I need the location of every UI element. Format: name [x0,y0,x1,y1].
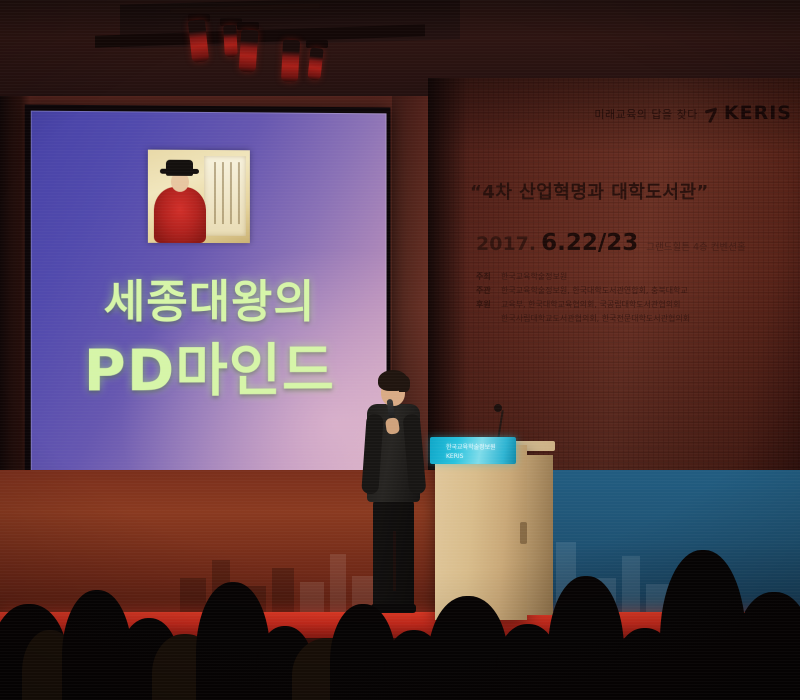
lectern-sign-line-2: KERIS [446,452,496,461]
lectern-sign-text: 한국교육학술정보원 KERIS [446,443,496,461]
banner-date: 2017. 6.22/23 그랜드힐튼 4층 컨벤션홀 [476,230,796,256]
credit-value: 한국사립대학교도서관협의회, 한국전문대학도서관협의회 [501,312,690,326]
credit-value: 한국교육학술정보원, 한국대학도서관연합회, 충북대학교 [501,284,688,298]
slide-title-line-2: PD마인드 [31,325,387,408]
king-robe [154,187,206,243]
light-yoke [237,22,259,30]
credit-row: 한국사립대학교도서관협의회, 한국전문대학도서관협의회 [476,312,788,326]
banner-credits: 주최 한국교육학술정보원 주관 한국교육학술정보원, 한국대학도서관연합회, 충… [476,270,788,326]
keris-wordmark: KERIS [724,102,792,124]
credit-key: 주최 [476,270,494,284]
stage-light-3 [239,29,259,72]
keris-logo: 미래교육의 답을 찾다 KERIS [594,102,792,124]
speaker-shoes [371,604,416,613]
keris-swoosh-icon [704,108,718,124]
credit-row: 주최 한국교육학술정보원 [476,270,788,284]
credit-value: 교육부, 한국대학교육협의회, 국공립대학도서관협의회 [501,298,680,312]
banner-venue: 그랜드힐튼 4층 컨벤션홀 [643,239,745,253]
slide-portrait-image [148,150,250,243]
keris-tagline: 미래교육의 답을 찾다 [594,106,698,124]
stage-light-4 [281,40,300,83]
credit-key: 후원 [476,298,494,312]
conference-photo-scene: 미래교육의 답을 찾다 KERIS “4차 산업혁명과 대학도서관” 2017.… [0,0,800,700]
projection-screen: 세종대왕의 PD마인드 [31,111,387,481]
credit-key: 주관 [476,284,494,298]
credit-row: 주관 한국교육학술정보원, 한국대학도서관연합회, 충북대학교 [476,284,788,298]
banner-headline: “4차 산업혁명과 대학도서관” [470,178,780,204]
lectern-side-panel [527,455,553,615]
king-hat [166,160,193,176]
speaker-leg-gap [393,531,396,591]
scroll-graphic [204,156,246,236]
lectern-notch [520,522,527,544]
banner-date-year: 2017. [476,233,536,255]
speaker-hand [385,417,400,435]
credit-value: 한국교육학술정보원 [501,270,567,284]
light-yoke [278,32,300,40]
projection-screen-frame: 세종대왕의 PD마인드 [25,105,391,486]
light-yoke [306,40,328,48]
banner-shadow [428,78,468,498]
credit-row: 후원 교육부, 한국대학교육협의회, 국공립대학도서관협의회 [476,298,788,312]
stage-light-2 [223,25,238,58]
lectern-body [435,445,527,620]
banner-date-days: 6.22/23 [541,230,638,256]
speaker-hair [378,370,408,391]
lectern-sign-line-1: 한국교육학술정보원 [446,443,496,452]
stage-floor [0,638,800,700]
lectern-microphone-head [494,404,502,412]
speaker-figure [363,366,425,621]
lectern-sign: 한국교육학술정보원 KERIS [430,437,516,464]
conference-banner: 미래교육의 답을 찾다 KERIS “4차 산업혁명과 대학도서관” 2017.… [428,78,800,498]
slide-title-line-1: 세종대왕의 [31,265,387,330]
